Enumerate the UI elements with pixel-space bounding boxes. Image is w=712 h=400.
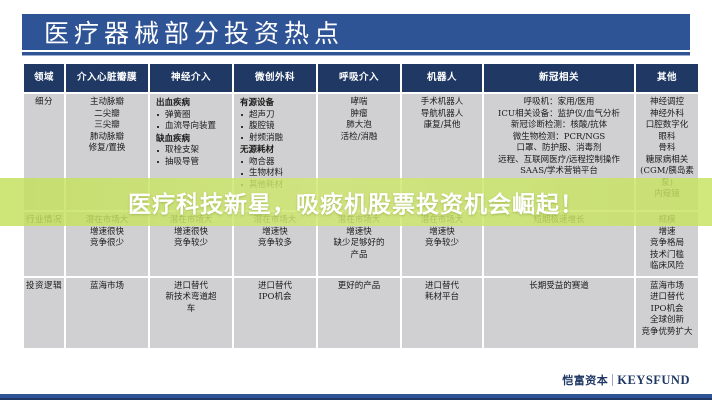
cell-line: 耗材平台 — [404, 292, 480, 304]
page-title: 医疗器械部分投资热点 — [22, 14, 344, 50]
col-header-heart-valve: 介入心脏瓣膜 — [66, 64, 148, 92]
cell-line: 竞争格局 — [638, 238, 696, 250]
cell-line: 眼科 — [638, 132, 696, 144]
cell-group-title: 出血疾病 — [156, 98, 230, 110]
cell-bullet: 血流导向装置 — [156, 121, 230, 133]
cell-line: 口罩、防护服、消毒剂 — [486, 143, 632, 155]
cell-bullet: 取栓支架 — [156, 145, 230, 157]
cell-line: 骨科 — [638, 143, 696, 155]
cell-line: 临床风险 — [638, 261, 696, 273]
cell-line: 神经调控 — [638, 97, 696, 109]
cell-line: IPO机会 — [236, 292, 314, 304]
cell-line: 竞争较少 — [152, 238, 230, 250]
cell-line: SAAS/学术营销平台 — [486, 166, 632, 178]
footer-logo: 恺富资本 KEYSFUND — [562, 372, 690, 388]
cell-bullet: 腹腔镜 — [240, 121, 314, 133]
cell-line: 增速快 — [236, 227, 314, 239]
slide-canvas: 医疗器械部分投资热点 领域 介入心脏瓣膜 神经介入 微创外科 呼吸介入 机器人 … — [0, 0, 712, 400]
cell-line: 蓝海市场 — [638, 281, 696, 293]
cell-line: 主动脉瓣 — [68, 97, 146, 109]
cell-line: 哮喘 — [320, 97, 398, 109]
cell-line: 进口替代 — [152, 281, 230, 293]
cell-bullet: 射频消融 — [240, 133, 314, 145]
table-row: 投资逻辑蓝海市场进口替代新技术弯道超车进口替代IPO机会更好的产品进口替代耗材平… — [24, 278, 698, 348]
cell-line: 肺大泡 — [320, 120, 398, 132]
col-header-covid: 新冠相关 — [484, 64, 634, 92]
cell-line: 技术门槛 — [638, 250, 696, 262]
cell-line: 竞争较多 — [236, 238, 314, 250]
cell-line: 增速很快 — [68, 227, 146, 239]
cell-line: 车 — [152, 304, 230, 316]
table-cell: 进口替代耗材平台 — [402, 278, 482, 348]
table-cell: 长期受益的赛道 — [484, 278, 634, 348]
col-header-other: 其他 — [636, 64, 698, 92]
cell-line: 活检/消融 — [320, 132, 398, 144]
row-header: 投资逻辑 — [24, 278, 64, 348]
cell-line: 全球创新 — [638, 315, 696, 327]
table-cell: 蓝海市场进口替代IPO机会全球创新竞争优势扩大 — [636, 278, 698, 348]
logo-chinese-name: 恺富资本 — [562, 372, 608, 388]
table-header-row: 领域 介入心脏瓣膜 神经介入 微创外科 呼吸介入 机器人 新冠相关 其他 — [24, 64, 698, 92]
cell-line: 康复/其他 — [404, 120, 480, 132]
col-header-minimally-invasive: 微创外科 — [234, 64, 316, 92]
cell-line: 三尖瓣 — [68, 120, 146, 132]
cell-line: 增速 — [638, 227, 696, 239]
cell-line: 进口替代 — [638, 292, 696, 304]
cell-line: IPO机会 — [638, 304, 696, 316]
cell-line: 产品 — [320, 250, 398, 262]
cell-line: 进口替代 — [404, 281, 480, 293]
cell-line: 呼吸机：家用/医用 — [486, 97, 632, 109]
cell-line: 神经外科 — [638, 109, 696, 121]
col-header-robotics: 机器人 — [402, 64, 482, 92]
cell-line: 远程、互联网医疗/远程控制操作 — [486, 155, 632, 167]
cell-group-title: 无源耗材 — [240, 145, 314, 157]
logo-english-name: KEYSFUND — [617, 373, 690, 388]
promo-banner-text: 医疗科技新星，吸痰机股票投资机会崛起！ — [0, 178, 712, 226]
slide-title-bar: 医疗器械部分投资热点 — [22, 14, 690, 50]
table-cell: 进口替代IPO机会 — [234, 278, 316, 348]
table-cell: 更好的产品 — [318, 278, 400, 348]
cell-bullet: 弹簧圈 — [156, 110, 230, 122]
cell-line: 蓝海市场 — [68, 281, 146, 293]
cell-line: 肿瘤 — [320, 109, 398, 121]
title-divider-light — [22, 55, 690, 56]
col-header-neuro: 神经介入 — [150, 64, 232, 92]
cell-line: 长期受益的赛道 — [486, 281, 632, 293]
cell-line: 缺少足够好的 — [320, 238, 398, 250]
table-cell: 蓝海市场 — [66, 278, 148, 348]
logo-separator — [612, 374, 613, 386]
cell-group-title: 有源设备 — [240, 98, 314, 110]
cell-group-title: 缺血疾病 — [156, 134, 230, 146]
cell-line: 竞争较少 — [404, 238, 480, 250]
cell-line: 增速很快 — [152, 227, 230, 239]
cell-line: 微生物检测：PCR/NGS — [486, 132, 632, 144]
cell-line: 糖尿病相关 — [638, 155, 696, 167]
col-header-respiratory: 呼吸介入 — [318, 64, 400, 92]
cell-line: 新技术弯道超 — [152, 292, 230, 304]
cell-line: ICU相关设备：监护仪/血气分析 — [486, 109, 632, 121]
table-cell: 进口替代新技术弯道超车 — [150, 278, 232, 348]
cell-bullet: 超声刀 — [240, 110, 314, 122]
cell-line: 二尖瓣 — [68, 109, 146, 121]
col-header-domain: 领域 — [24, 64, 64, 92]
cell-line: 肺动脉瓣 — [68, 132, 146, 144]
cell-line: 竞争很少 — [68, 238, 146, 250]
cell-line: 导航机器人 — [404, 109, 480, 121]
cell-line: 增速快 — [404, 227, 480, 239]
cell-line: 竞争优势扩大 — [638, 327, 696, 339]
cell-line: 修复/置换 — [68, 143, 146, 155]
cell-line: 新冠诊断检测：核酸/抗体 — [486, 120, 632, 132]
cell-bullet: 抽吸导管 — [156, 157, 230, 169]
cell-line: 口腔数字化 — [638, 120, 696, 132]
cell-line: 手术机器人 — [404, 97, 480, 109]
cell-line: 进口替代 — [236, 281, 314, 293]
cell-line: 更好的产品 — [320, 281, 398, 293]
cell-line: 增速快 — [320, 227, 398, 239]
cell-bullet: 吻合器 — [240, 157, 314, 169]
